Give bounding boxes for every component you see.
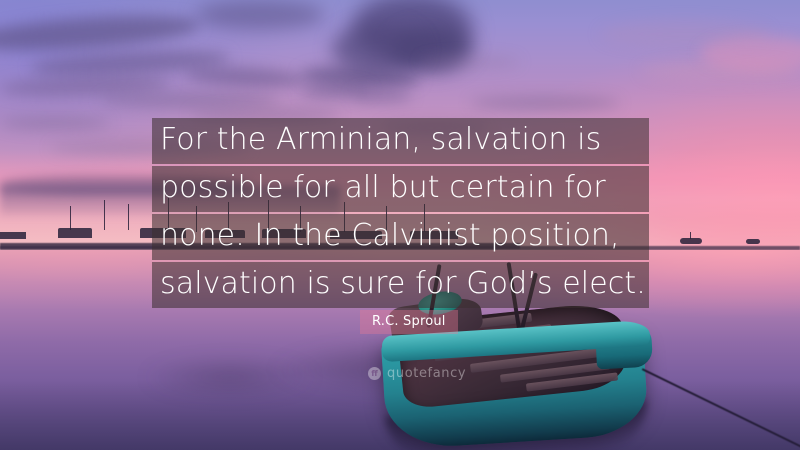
watermark: ff quotefancy [368, 366, 466, 381]
quote-line: For the Arminian, salvation is [152, 118, 649, 164]
watermark-label: quotefancy [387, 366, 466, 381]
quote-line: none. In the Calvinist position, [152, 214, 649, 260]
quote-author: R.C. Sproul [360, 310, 458, 334]
quote-line: possible for all but certain for [152, 166, 649, 212]
quotefancy-logo-icon: ff [368, 367, 381, 380]
quote-image: For the Arminian, salvation is possible … [0, 0, 800, 450]
quote-text-block: For the Arminian, salvation is possible … [152, 118, 649, 308]
quote-line: salvation is sure for God’s elect. [152, 262, 649, 308]
